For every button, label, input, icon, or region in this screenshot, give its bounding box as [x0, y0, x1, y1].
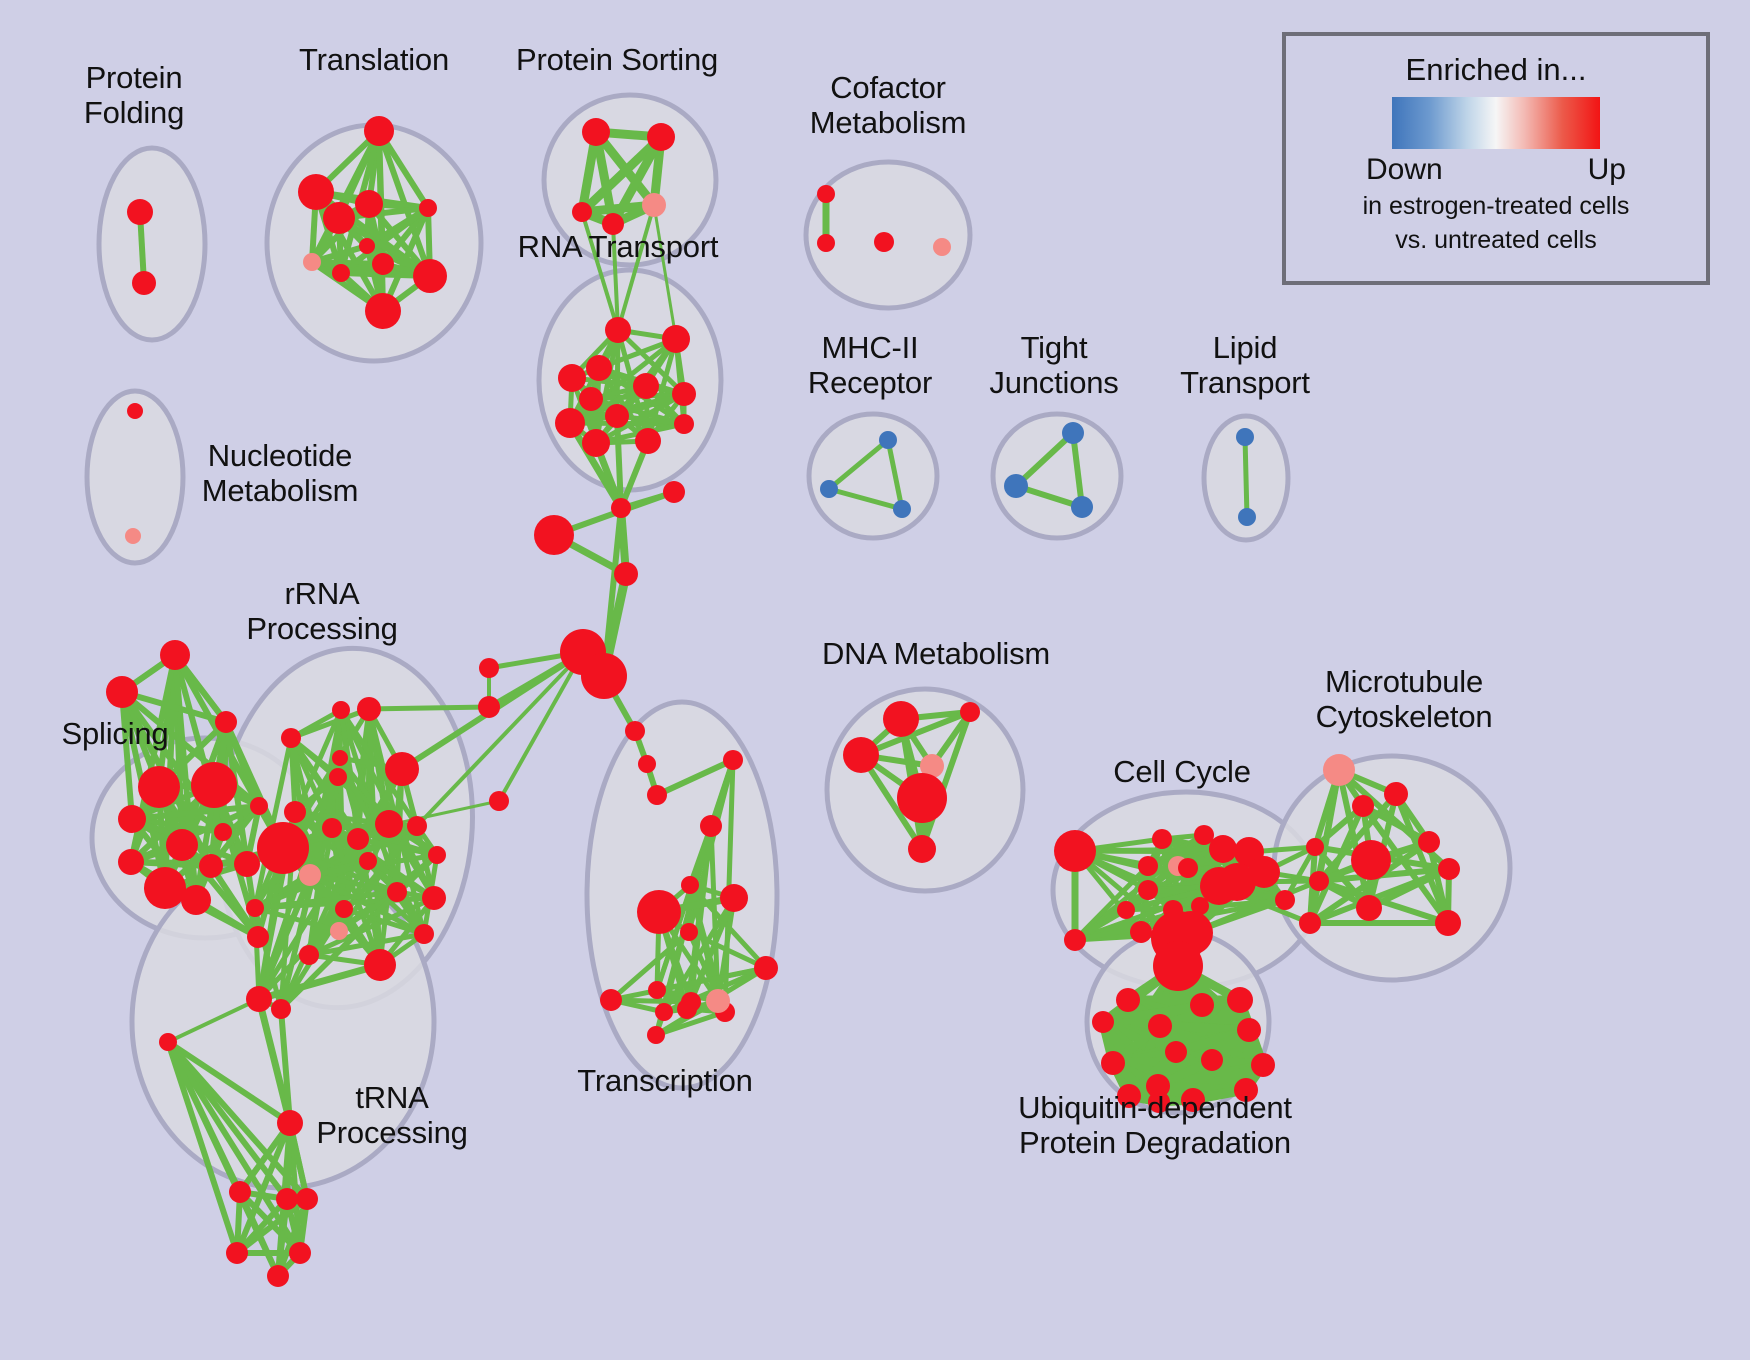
network-node[interactable]: [267, 1265, 289, 1287]
network-node[interactable]: [1153, 941, 1203, 991]
network-node[interactable]: [246, 899, 264, 917]
network-node[interactable]: [357, 697, 381, 721]
network-node[interactable]: [199, 854, 223, 878]
network-node[interactable]: [299, 945, 319, 965]
network-node[interactable]: [284, 801, 306, 823]
network-node[interactable]: [1178, 858, 1198, 878]
network-node[interactable]: [1435, 910, 1461, 936]
network-node[interactable]: [413, 259, 447, 293]
network-node[interactable]: [893, 500, 911, 518]
legend-caption-line1: in estrogen-treated cells: [1363, 191, 1630, 221]
network-node[interactable]: [633, 373, 659, 399]
network-node[interactable]: [478, 696, 500, 718]
network-node[interactable]: [1148, 1014, 1172, 1038]
cluster-label-rrna-processing: rRNA Processing: [246, 576, 397, 646]
network-node[interactable]: [605, 317, 631, 343]
network-node[interactable]: [289, 1242, 311, 1264]
network-node[interactable]: [754, 956, 778, 980]
network-node[interactable]: [908, 835, 936, 863]
network-node[interactable]: [677, 999, 697, 1019]
network-edge: [611, 1000, 691, 1002]
network-node[interactable]: [700, 815, 722, 837]
cluster-label-protein-folding: Protein Folding: [84, 60, 184, 130]
network-node[interactable]: [672, 382, 696, 406]
network-node[interactable]: [1062, 422, 1084, 444]
network-node[interactable]: [1352, 795, 1374, 817]
network-node[interactable]: [680, 923, 698, 941]
network-node[interactable]: [582, 429, 610, 457]
network-node[interactable]: [329, 768, 347, 786]
network-node[interactable]: [234, 851, 260, 877]
network-node[interactable]: [1064, 929, 1086, 951]
legend-caption-line2: vs. untreated cells: [1395, 225, 1597, 255]
cluster-label-ubiquitin-degradation: Ubiquitin-dependent Protein Degradation: [1018, 1090, 1292, 1160]
network-node[interactable]: [1384, 782, 1408, 806]
network-node[interactable]: [160, 640, 190, 670]
network-node[interactable]: [874, 232, 894, 252]
network-node[interactable]: [1438, 858, 1460, 880]
network-node[interactable]: [655, 1003, 673, 1021]
network-node[interactable]: [271, 999, 291, 1019]
network-node[interactable]: [1209, 835, 1237, 863]
network-node[interactable]: [1275, 890, 1295, 910]
network-node[interactable]: [181, 885, 211, 915]
cluster-label-protein-sorting: Protein Sorting: [516, 42, 718, 77]
network-node[interactable]: [558, 364, 586, 392]
network-node[interactable]: [214, 823, 232, 841]
network-node[interactable]: [118, 805, 146, 833]
network-node[interactable]: [1201, 1049, 1223, 1071]
network-node[interactable]: [1299, 912, 1321, 934]
network-node[interactable]: [428, 846, 446, 864]
network-node[interactable]: [419, 199, 437, 217]
network-node[interactable]: [257, 822, 309, 874]
cluster-label-dna-metabolism: DNA Metabolism: [822, 636, 1050, 671]
network-node[interactable]: [625, 721, 645, 741]
network-node[interactable]: [332, 701, 350, 719]
network-node[interactable]: [407, 816, 427, 836]
network-node[interactable]: [296, 1188, 318, 1210]
network-node[interactable]: [1418, 831, 1440, 853]
network-node[interactable]: [572, 202, 592, 222]
network-node[interactable]: [250, 797, 268, 815]
network-node[interactable]: [647, 785, 667, 805]
cluster-label-cofactor-metabolism: Cofactor Metabolism: [810, 70, 967, 140]
network-node[interactable]: [144, 867, 186, 909]
network-node[interactable]: [281, 728, 301, 748]
network-node[interactable]: [614, 562, 638, 586]
network-node[interactable]: [579, 387, 603, 411]
network-node[interactable]: [960, 702, 980, 722]
network-node[interactable]: [1218, 863, 1256, 901]
network-node[interactable]: [303, 253, 321, 271]
network-node[interactable]: [648, 981, 666, 999]
network-node[interactable]: [581, 653, 627, 699]
network-node[interactable]: [817, 234, 835, 252]
network-node[interactable]: [1138, 856, 1158, 876]
network-node[interactable]: [1323, 754, 1355, 786]
network-node[interactable]: [1190, 993, 1214, 1017]
network-node[interactable]: [298, 174, 334, 210]
network-node[interactable]: [674, 414, 694, 434]
network-node[interactable]: [359, 238, 375, 254]
legend-endpoints: Down Up: [1366, 153, 1626, 187]
network-node[interactable]: [817, 185, 835, 203]
network-node[interactable]: [820, 480, 838, 498]
network-node[interactable]: [1309, 871, 1329, 891]
network-node[interactable]: [127, 199, 153, 225]
network-edge: [1075, 849, 1223, 851]
network-node[interactable]: [323, 202, 355, 234]
network-node[interactable]: [647, 1026, 665, 1044]
network-node[interactable]: [479, 658, 499, 678]
network-node[interactable]: [637, 890, 681, 934]
network-node[interactable]: [355, 190, 383, 218]
network-node[interactable]: [364, 116, 394, 146]
network-node[interactable]: [347, 828, 369, 850]
network-node[interactable]: [166, 829, 198, 861]
network-node[interactable]: [332, 750, 348, 766]
network-node[interactable]: [897, 773, 947, 823]
network-node[interactable]: [226, 1242, 248, 1264]
cluster-label-nucleotide-metabolism: Nucleotide Metabolism: [202, 438, 359, 508]
network-node[interactable]: [843, 737, 879, 773]
cluster-hull-protein-folding: [99, 148, 205, 340]
network-node[interactable]: [1138, 880, 1158, 900]
legend-high-label: Up: [1588, 153, 1626, 187]
network-node[interactable]: [681, 876, 699, 894]
network-node[interactable]: [586, 355, 612, 381]
network-node[interactable]: [277, 1110, 303, 1136]
legend-color-gradient-bar: [1392, 97, 1600, 149]
cluster-label-trna-processing: tRNA Processing: [316, 1080, 467, 1150]
network-node[interactable]: [1238, 508, 1256, 526]
network-node[interactable]: [127, 403, 143, 419]
network-node[interactable]: [1152, 829, 1172, 849]
network-node[interactable]: [118, 849, 144, 875]
legend-low-label: Down: [1366, 153, 1443, 187]
network-node[interactable]: [385, 752, 419, 786]
network-node[interactable]: [663, 481, 685, 503]
network-node[interactable]: [1236, 428, 1254, 446]
network-node[interactable]: [611, 498, 631, 518]
cluster-label-lipid-transport: Lipid Transport: [1180, 330, 1310, 400]
network-node[interactable]: [720, 884, 748, 912]
network-node[interactable]: [1116, 988, 1140, 1012]
network-node[interactable]: [422, 886, 446, 910]
network-node[interactable]: [387, 882, 407, 902]
cluster-label-tight-junctions: Tight Junctions: [989, 330, 1118, 400]
network-node[interactable]: [1101, 1051, 1125, 1075]
network-node[interactable]: [276, 1188, 298, 1210]
cluster-label-translation: Translation: [299, 42, 449, 77]
network-node[interactable]: [191, 762, 237, 808]
network-node[interactable]: [322, 818, 342, 838]
network-node[interactable]: [555, 408, 585, 438]
enrichment-map-figure: Enriched in... Down Up in estrogen-treat…: [0, 0, 1750, 1360]
network-node[interactable]: [723, 750, 743, 770]
network-node[interactable]: [1092, 1011, 1114, 1033]
network-node[interactable]: [1351, 840, 1391, 880]
network-node[interactable]: [647, 123, 675, 151]
network-node[interactable]: [247, 926, 269, 948]
network-node[interactable]: [879, 431, 897, 449]
network-node[interactable]: [642, 193, 666, 217]
network-node[interactable]: [1306, 838, 1324, 856]
network-node[interactable]: [132, 271, 156, 295]
network-node[interactable]: [635, 428, 661, 454]
legend-title: Enriched in...: [1406, 52, 1587, 88]
network-node[interactable]: [138, 766, 180, 808]
network-node[interactable]: [662, 325, 690, 353]
network-node[interactable]: [1054, 830, 1096, 872]
network-node[interactable]: [229, 1181, 251, 1203]
network-node[interactable]: [1237, 1018, 1261, 1042]
network-node[interactable]: [1251, 1053, 1275, 1077]
cluster-label-mhc-ii-receptor: MHC-II Receptor: [808, 330, 932, 400]
network-node[interactable]: [299, 864, 321, 886]
network-node[interactable]: [883, 701, 919, 737]
network-node[interactable]: [364, 949, 396, 981]
network-edge: [1245, 437, 1247, 517]
network-node[interactable]: [489, 791, 509, 811]
cluster-label-rna-transport: RNA Transport: [518, 229, 719, 264]
network-node[interactable]: [582, 118, 610, 146]
network-node[interactable]: [332, 264, 350, 282]
network-node[interactable]: [1130, 921, 1152, 943]
cluster-label-splicing: Splicing: [62, 716, 169, 751]
network-node[interactable]: [706, 989, 730, 1013]
network-node[interactable]: [215, 711, 237, 733]
network-node[interactable]: [1165, 1041, 1187, 1063]
network-node[interactable]: [605, 404, 629, 428]
network-node[interactable]: [159, 1033, 177, 1051]
network-node[interactable]: [359, 852, 377, 870]
network-node[interactable]: [534, 515, 574, 555]
network-node[interactable]: [106, 676, 138, 708]
cluster-label-cell-cycle: Cell Cycle: [1113, 754, 1251, 789]
network-node[interactable]: [246, 986, 272, 1012]
network-node[interactable]: [414, 924, 434, 944]
network-node[interactable]: [375, 810, 403, 838]
legend-box: Enriched in... Down Up in estrogen-treat…: [1282, 32, 1710, 285]
network-node[interactable]: [1227, 987, 1253, 1013]
network-edge: [617, 416, 621, 508]
network-node[interactable]: [335, 900, 353, 918]
network-node[interactable]: [125, 528, 141, 544]
network-node[interactable]: [1071, 496, 1093, 518]
cluster-label-microtubule-cytoskeleton: Microtubule Cytoskeleton: [1316, 664, 1493, 734]
network-node[interactable]: [1004, 474, 1028, 498]
cluster-label-transcription: Transcription: [577, 1063, 752, 1098]
network-node[interactable]: [933, 238, 951, 256]
network-node[interactable]: [365, 293, 401, 329]
network-node[interactable]: [330, 922, 348, 940]
network-edge: [369, 707, 489, 709]
network-node[interactable]: [638, 755, 656, 773]
network-node[interactable]: [372, 253, 394, 275]
network-node[interactable]: [600, 989, 622, 1011]
network-node[interactable]: [1356, 895, 1382, 921]
cluster-hull-mhc-ii-receptor: [809, 414, 937, 538]
network-node[interactable]: [1117, 901, 1135, 919]
